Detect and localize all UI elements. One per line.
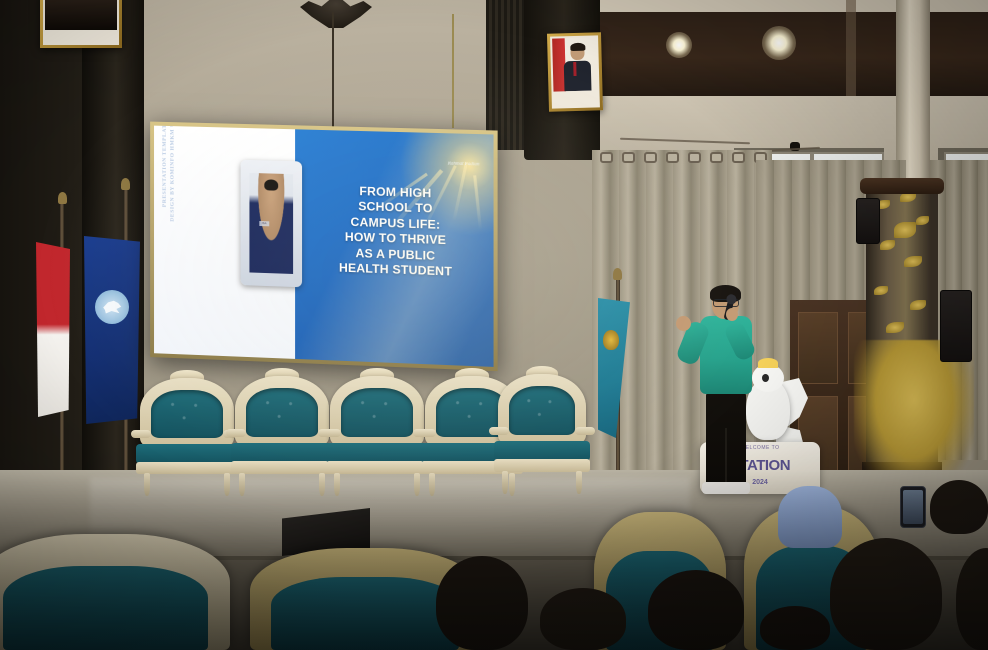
downlight-icon bbox=[762, 26, 796, 60]
auditorium-photo: Rahmat Fadlan PRESENTATION TEMPLATE DESI… bbox=[0, 0, 988, 650]
framed-portrait bbox=[40, 0, 122, 48]
audience-head bbox=[830, 538, 942, 650]
pa-speaker bbox=[856, 198, 880, 244]
portrait-image bbox=[45, 0, 117, 30]
portrait-caption bbox=[554, 90, 598, 106]
portrait-image bbox=[552, 37, 597, 91]
framed-portrait-president bbox=[547, 32, 603, 111]
flag-finial bbox=[613, 268, 622, 280]
presenter-person bbox=[686, 288, 764, 500]
flag-finial bbox=[58, 192, 67, 204]
audience-head bbox=[760, 606, 830, 650]
screen-cable bbox=[332, 12, 334, 128]
slide-title: FROM HIGH SCHOOL TO CAMPUS LIFE: HOW TO … bbox=[305, 182, 487, 281]
slide-photo-frame: ISA bbox=[241, 160, 303, 288]
stage-chair[interactable] bbox=[140, 378, 234, 494]
slide-vertical-credit: PRESENTATION TEMPLATE DESIGN BY KOMINFO … bbox=[161, 126, 177, 239]
portrait-caption bbox=[45, 30, 117, 43]
downlight-icon bbox=[666, 32, 692, 58]
screen-cable bbox=[452, 14, 454, 128]
audience-head bbox=[930, 480, 988, 534]
pillar-cap bbox=[860, 178, 944, 194]
upnvj-flag bbox=[84, 236, 140, 424]
audience-head bbox=[648, 570, 744, 650]
audience-head bbox=[436, 556, 528, 650]
audience-chair[interactable] bbox=[0, 534, 230, 650]
winged-horse-emblem bbox=[95, 290, 129, 324]
gold-artificial-tree bbox=[854, 340, 974, 490]
flag-finial bbox=[121, 178, 130, 190]
credit-line-1: PRESENTATION TEMPLATE bbox=[161, 126, 169, 238]
pa-speaker bbox=[940, 290, 972, 362]
credit-line-2: DESIGN BY KOMINFO HMKM UPNVJ bbox=[169, 126, 177, 239]
raised-phone[interactable] bbox=[900, 486, 926, 528]
stage-chair[interactable] bbox=[235, 376, 329, 494]
stage-chair[interactable] bbox=[498, 374, 586, 492]
audience-hijab bbox=[778, 486, 842, 548]
gold-crest-emblem bbox=[603, 330, 619, 350]
audience-head bbox=[540, 588, 626, 650]
indonesia-flag bbox=[36, 242, 70, 417]
projection-screen: Rahmat Fadlan PRESENTATION TEMPLATE DESI… bbox=[150, 122, 497, 372]
slide-script-mark: Rahmat Fadlan bbox=[448, 161, 480, 168]
uniform-badge: ISA bbox=[259, 221, 269, 226]
presenter-shoes bbox=[702, 482, 750, 494]
slide-photo: ISA bbox=[250, 173, 294, 274]
stage-chair[interactable] bbox=[330, 376, 424, 494]
ceiling-seam bbox=[846, 0, 856, 96]
